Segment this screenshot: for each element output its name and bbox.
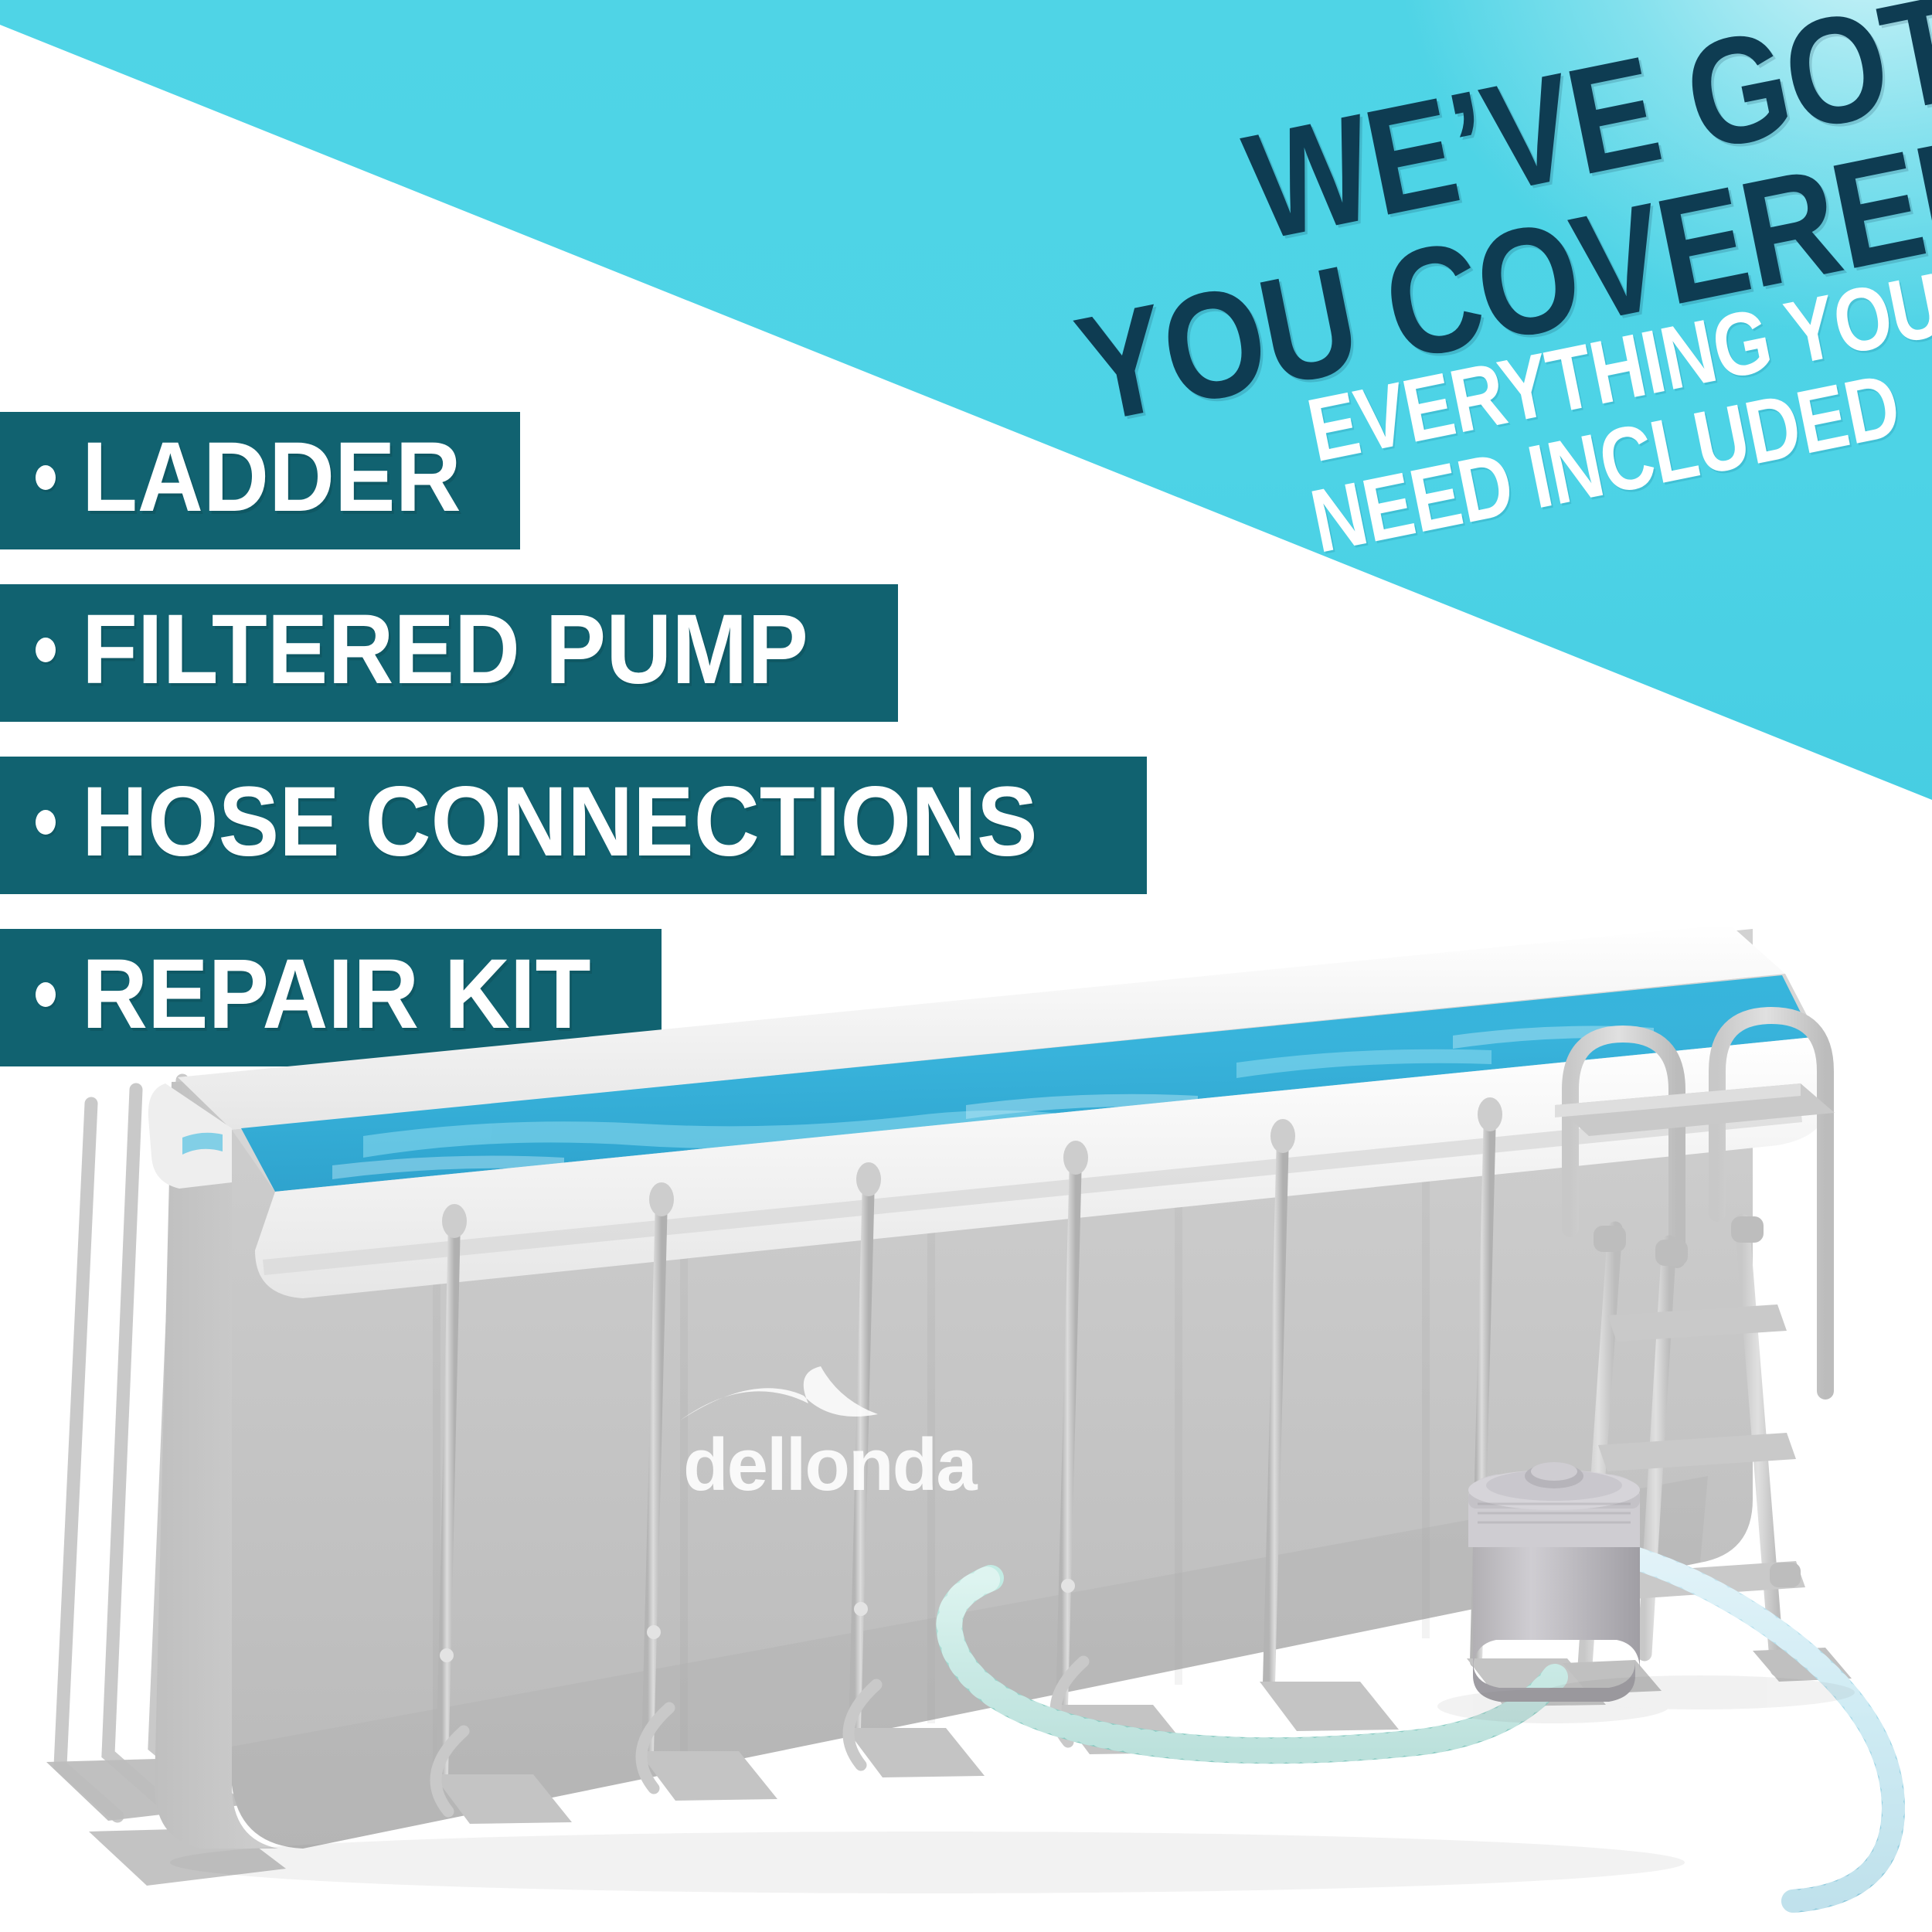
feature-item-filtered-pump: FILTERED PUMP — [0, 584, 898, 722]
feature-item-ladder: LADDER — [0, 412, 520, 549]
feature-label: LADDER — [82, 421, 461, 534]
pool-illustration: dellonda — [0, 858, 1932, 1932]
feature-label: FILTERED PUMP — [82, 594, 808, 706]
dot-icon — [36, 465, 56, 490]
dot-icon — [36, 810, 56, 835]
poster-canvas: WE’VE GOT YOU COVERED EVERYTHING YOU NEE… — [0, 0, 1932, 1932]
dot-icon — [36, 638, 56, 662]
product-image: dellonda — [0, 858, 1932, 1932]
svg-text:dellonda: dellonda — [683, 1423, 978, 1506]
